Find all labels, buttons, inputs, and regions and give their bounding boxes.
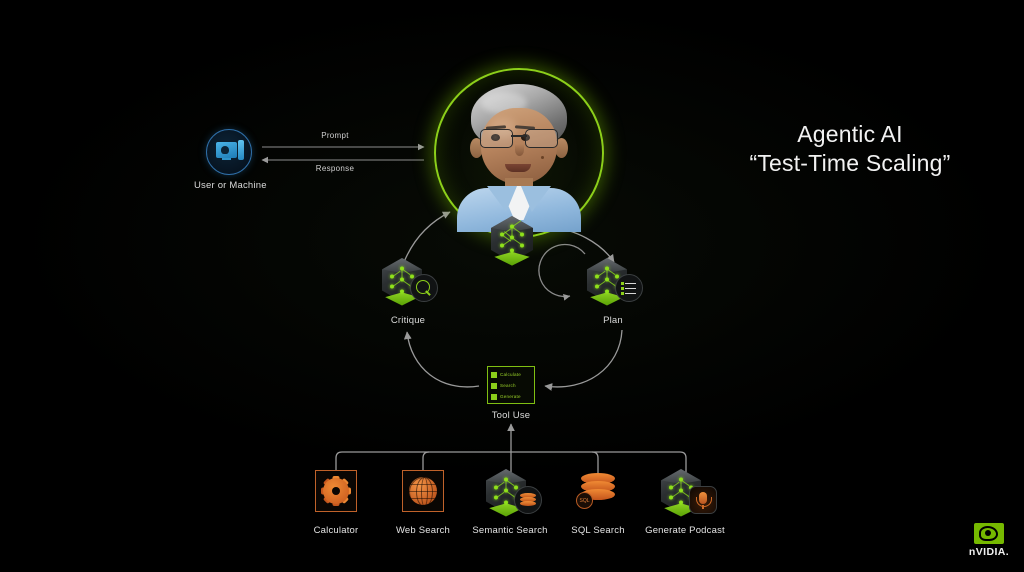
tool-use-checklist: Calculate Search Generate: [487, 366, 535, 404]
tool-use-item: Calculate: [491, 370, 531, 380]
gear-icon: [315, 470, 357, 512]
database-icon: [514, 486, 542, 514]
checkbox-icon: [491, 383, 497, 389]
tool-use-label: Tool Use: [487, 410, 535, 421]
tool-web-search-label: Web Search: [375, 525, 471, 536]
tool-sql-search-label: SQL Search: [550, 525, 646, 536]
jensen-avatar: [434, 68, 604, 238]
cycle-node-critique[interactable]: Critique: [370, 258, 446, 326]
response-label: Response: [295, 164, 375, 173]
tool-semantic-search-label: Semantic Search: [462, 525, 558, 536]
database-stack-icon: SQL: [581, 473, 615, 507]
monitor-person-icon: [206, 129, 252, 175]
avatar-figure: [453, 82, 585, 232]
tool-semantic-search[interactable]: Semantic Search: [462, 468, 558, 536]
prompt-label: Prompt: [295, 131, 375, 140]
tool-generate-podcast-label: Generate Podcast: [637, 525, 733, 536]
checkbox-icon: [491, 372, 497, 378]
neural-cube-icon: [491, 216, 533, 262]
nvidia-logo: nVIDIA.: [963, 523, 1015, 558]
tool-web-search[interactable]: Web Search: [375, 468, 471, 536]
user-node-label: User or Machine: [194, 180, 264, 191]
microphone-icon: [689, 486, 717, 514]
cycle-node-critique-label: Critique: [370, 315, 446, 326]
cycle-node-plan[interactable]: Plan: [575, 258, 651, 326]
title-line-1: Agentic AI: [700, 120, 1000, 149]
tool-calculator-label: Calculator: [288, 525, 384, 536]
tool-sql-search[interactable]: SQL SQL Search: [550, 468, 646, 536]
cycle-node-plan-label: Plan: [575, 315, 651, 326]
tool-use-item-label: Generate: [500, 395, 521, 400]
user-or-machine-node[interactable]: User or Machine: [194, 129, 264, 191]
sql-badge: SQL: [576, 492, 593, 509]
globe-icon: [402, 470, 444, 512]
slide-title: Agentic AI “Test-Time Scaling”: [700, 120, 1000, 179]
tool-use-item: Search: [491, 381, 531, 391]
slide-canvas: Agentic AI “Test-Time Scaling” User or M…: [0, 0, 1024, 572]
checkbox-icon: [491, 394, 497, 400]
tool-calculator[interactable]: Calculator: [288, 468, 384, 536]
title-line-2: “Test-Time Scaling”: [700, 149, 1000, 178]
tool-generate-podcast[interactable]: Generate Podcast: [637, 468, 733, 536]
nvidia-wordmark: nVIDIA.: [963, 546, 1015, 558]
nvidia-eye-icon: [974, 523, 1004, 544]
tool-use-item-label: Calculate: [500, 373, 521, 378]
magnifier-icon: [410, 274, 438, 302]
tool-use-item-label: Search: [500, 384, 516, 389]
tool-use-item: Generate: [491, 392, 531, 402]
tool-use-node[interactable]: Calculate Search Generate Tool Use: [487, 366, 535, 421]
checklist-icon: [615, 274, 643, 302]
